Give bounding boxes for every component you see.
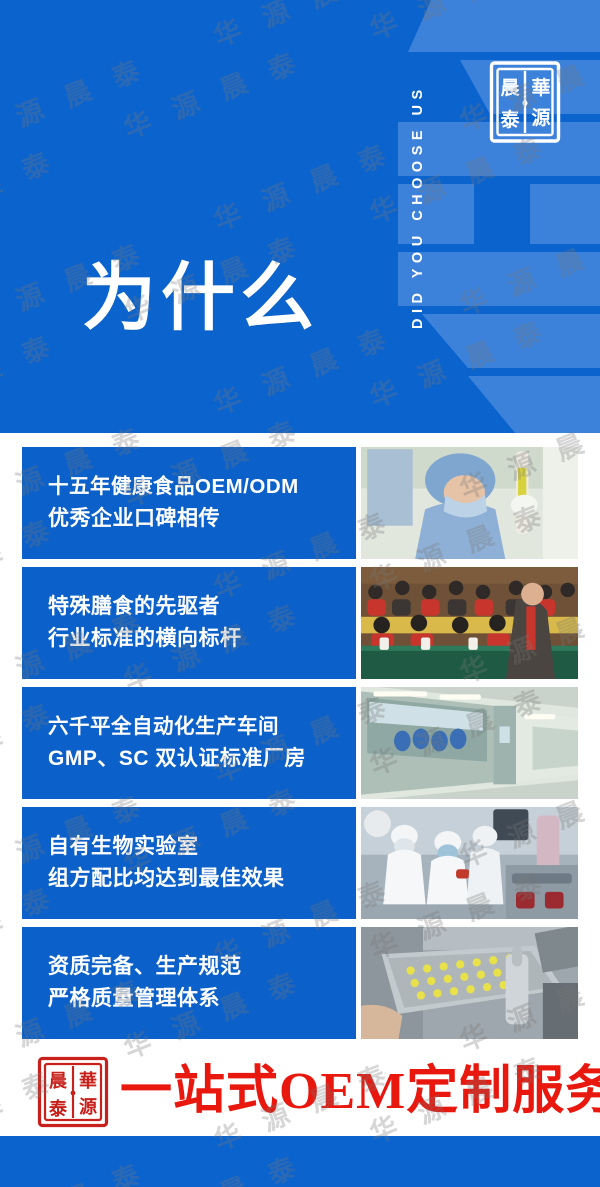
feature-photo-lab-technician xyxy=(361,447,578,559)
svg-text:晨: 晨 xyxy=(49,1071,68,1091)
feature-line-1: 特殊膳食的先驱者 xyxy=(48,591,348,623)
poster-root: 为什么 选择 我们? DID YOU CHOOSE US 華 源 晨 泰 xyxy=(0,0,600,1187)
feature-card[interactable]: 十五年健康食品OEM/ODM 优秀企业口碑相传 xyxy=(22,447,578,559)
footer-blue-strip xyxy=(0,1136,600,1187)
feature-card[interactable]: 特殊膳食的先驱者 行业标准的横向标杆 xyxy=(22,567,578,679)
svg-text:華: 華 xyxy=(79,1070,97,1091)
feature-line-1: 自有生物实验室 xyxy=(48,831,348,863)
feature-line-2: 组方配比均达到最佳效果 xyxy=(48,863,348,895)
svg-text:泰: 泰 xyxy=(48,1098,68,1119)
feature-photo-clean-room xyxy=(361,687,578,799)
vertical-english-caption: DID YOU CHOOSE US xyxy=(410,12,444,402)
company-seal-red-icon: 華 源 晨 泰 xyxy=(36,1055,110,1129)
feature-photo-conference-audience xyxy=(361,567,578,679)
feature-card[interactable]: 自有生物实验室 组方配比均达到最佳效果 xyxy=(22,807,578,919)
feature-line-2: GMP、SC 双认证标准厂房 xyxy=(48,743,348,775)
feature-line-2: 优秀企业口碑相传 xyxy=(48,503,348,535)
feature-card-text: 十五年健康食品OEM/ODM 优秀企业口碑相传 xyxy=(22,447,356,559)
svg-text:源: 源 xyxy=(531,106,550,129)
feature-line-2: 行业标准的横向标杆 xyxy=(48,623,348,655)
feature-card-list: 十五年健康食品OEM/ODM 优秀企业口碑相传 xyxy=(0,433,600,1048)
title-line-1: 为什么 xyxy=(82,250,319,349)
feature-card[interactable]: 六千平全自动化生产车间 GMP、SC 双认证标准厂房 xyxy=(22,687,578,799)
svg-text:晨: 晨 xyxy=(500,77,520,99)
svg-text:泰: 泰 xyxy=(499,108,520,131)
feature-line-2: 严格质量管理体系 xyxy=(48,983,348,1015)
feature-card-text: 资质完备、生产规范 严格质量管理体系 xyxy=(22,927,356,1039)
feature-card-text: 特殊膳食的先驱者 行业标准的横向标杆 xyxy=(22,567,356,679)
feature-photo-white-coat-workers xyxy=(361,807,578,919)
feature-photo-blister-packing xyxy=(361,927,578,1039)
page-title: 为什么 选择 我们? xyxy=(82,52,319,433)
feature-line-1: 六千平全自动化生产车间 xyxy=(48,711,348,742)
svg-text:源: 源 xyxy=(79,1096,97,1117)
svg-text:華: 華 xyxy=(531,76,550,99)
cta-banner[interactable]: 華 源 晨 泰 一站式OEM定制服务 xyxy=(0,1048,600,1136)
hero-section: 为什么 选择 我们? DID YOU CHOOSE US 華 源 晨 泰 xyxy=(0,0,600,433)
feature-line-1: 资质完备、生产规范 xyxy=(48,951,348,983)
feature-card-text: 自有生物实验室 组方配比均达到最佳效果 xyxy=(22,807,356,919)
cta-banner-text: 一站式OEM定制服务 xyxy=(120,1066,600,1118)
feature-card[interactable]: 资质完备、生产规范 严格质量管理体系 xyxy=(22,927,578,1039)
company-seal-icon: 華 源 晨 泰 xyxy=(487,58,563,146)
feature-line-1: 十五年健康食品OEM/ODM xyxy=(48,471,348,502)
feature-card-text: 六千平全自动化生产车间 GMP、SC 双认证标准厂房 xyxy=(22,687,356,799)
